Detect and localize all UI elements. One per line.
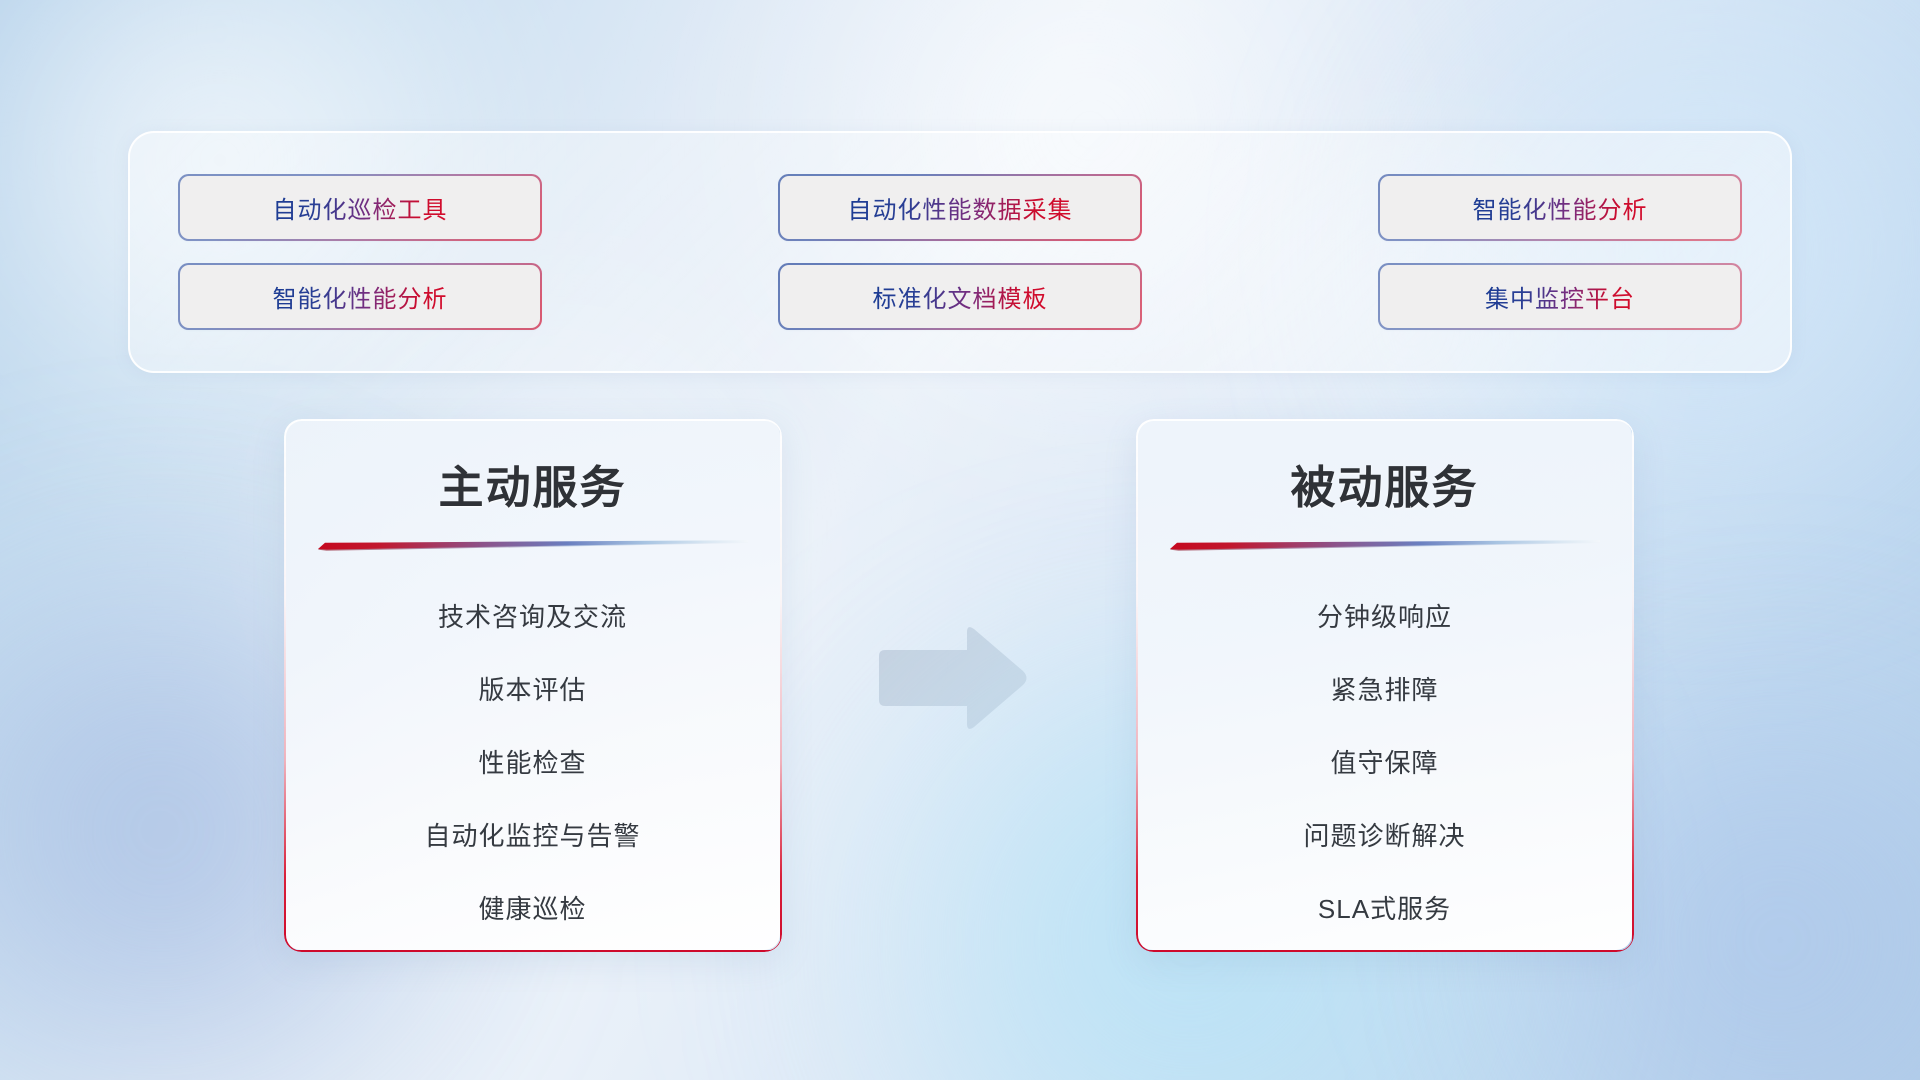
capability-cell: 标准化文档模板 [780, 265, 1140, 328]
capability-tag-label: 自动化巡检工具 [273, 190, 448, 225]
service-card-title: 被动服务 [1290, 451, 1478, 516]
list-item[interactable]: 值守保障 [1330, 725, 1438, 798]
capability-cell: 自动化性能数据采集 [780, 176, 1140, 239]
capability-tag-label: 智能化性能分析 [273, 279, 448, 314]
service-card-content: 被动服务 [1137, 420, 1632, 950]
list-item[interactable]: 分钟级响应 [1317, 579, 1452, 652]
list-item[interactable]: 技术咨询及交流 [438, 579, 627, 652]
capability-row-1: 自动化巡检工具 自动化性能数据采集 智能化性能分析 [180, 176, 1740, 239]
list-item[interactable]: 健康巡检 [478, 871, 586, 944]
capability-panel: 自动化巡检工具 自动化性能数据采集 智能化性能分析 智能化性能分析 [128, 131, 1792, 373]
service-card-reactive[interactable]: 被动服务 [1137, 420, 1632, 950]
capability-tag-label: 集中监控平台 [1485, 279, 1635, 314]
capability-cell: 智能化性能分析 [1380, 176, 1740, 239]
capability-row-2: 智能化性能分析 标准化文档模板 集中监控平台 [180, 265, 1740, 328]
service-card-proactive[interactable]: 主动服务 [285, 420, 780, 950]
service-card-title: 主动服务 [438, 451, 626, 516]
capability-tag-centralized-monitoring-platform[interactable]: 集中监控平台 [1380, 265, 1740, 328]
capability-tag-automated-inspection-tool[interactable]: 自动化巡检工具 [180, 176, 540, 239]
list-item[interactable]: 紧急排障 [1330, 652, 1438, 725]
capability-tag-label: 标准化文档模板 [873, 279, 1048, 314]
capability-tag-label: 自动化性能数据采集 [848, 190, 1073, 225]
capability-cell: 智能化性能分析 [180, 265, 540, 328]
capability-tag-intelligent-performance-analysis[interactable]: 智能化性能分析 [180, 265, 540, 328]
capability-tag-label: 智能化性能分析 [1473, 190, 1648, 225]
title-divider [318, 540, 748, 551]
list-item[interactable]: 性能检查 [478, 725, 586, 798]
capability-tag-automated-performance-data-collection[interactable]: 自动化性能数据采集 [780, 176, 1140, 239]
arrow-right-icon [871, 623, 1031, 733]
capability-tag-standardized-document-template[interactable]: 标准化文档模板 [780, 265, 1140, 328]
list-item[interactable]: 自动化监控与告警 [424, 798, 640, 871]
service-card-content: 主动服务 [285, 420, 780, 950]
capability-cell: 自动化巡检工具 [180, 176, 540, 239]
list-item[interactable]: 版本评估 [478, 652, 586, 725]
service-card-list: 分钟级响应 紧急排障 值守保障 问题诊断解决 SLA式服务 [1137, 579, 1632, 944]
diagram-stage: 自动化巡检工具 自动化性能数据采集 智能化性能分析 智能化性能分析 [0, 0, 1920, 1080]
capability-cell: 集中监控平台 [1380, 265, 1740, 328]
capability-tag-intelligent-performance-analysis-top[interactable]: 智能化性能分析 [1380, 176, 1740, 239]
service-card-list: 技术咨询及交流 版本评估 性能检查 自动化监控与告警 健康巡检 [285, 579, 780, 944]
list-item[interactable]: SLA式服务 [1318, 871, 1451, 944]
title-divider [1170, 540, 1600, 551]
list-item[interactable]: 问题诊断解决 [1303, 798, 1465, 871]
